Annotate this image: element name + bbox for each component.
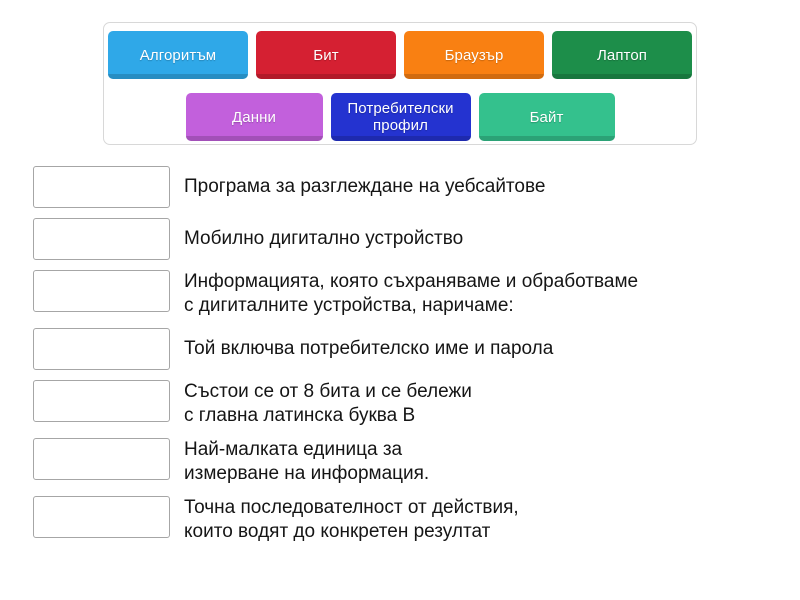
answer-text: Информацията, която съхраняваме и обрабо…: [184, 270, 638, 318]
answer-text: Най-малката единица за измерване на инфо…: [184, 438, 429, 486]
draggable-tile-label: Данни: [232, 109, 276, 126]
answer-row: Състои се от 8 бита и се бележи с главна…: [0, 380, 800, 428]
answer-drop-box[interactable]: [33, 380, 170, 422]
draggable-tile-label: Бит: [313, 47, 338, 64]
draggable-tile-label: Потребителски профил: [337, 100, 465, 134]
draggable-tile-label: Лаптоп: [597, 47, 647, 64]
answer-drop-box[interactable]: [33, 328, 170, 370]
draggable-tile[interactable]: Бит: [256, 31, 396, 79]
draggable-tile[interactable]: Алгоритъм: [108, 31, 248, 79]
draggable-tile-label: Байт: [530, 109, 564, 126]
draggable-tile-label: Браузър: [445, 47, 504, 64]
draggable-tile[interactable]: Байт: [479, 93, 615, 141]
draggable-tile[interactable]: Потребителски профил: [331, 93, 471, 141]
draggable-tile[interactable]: Браузър: [404, 31, 544, 79]
answer-drop-box[interactable]: [33, 166, 170, 208]
answer-row: Той включва потребителско име и парола: [0, 328, 800, 370]
answer-row: Най-малката единица за измерване на инфо…: [0, 438, 800, 486]
answer-drop-box[interactable]: [33, 270, 170, 312]
answer-drop-box[interactable]: [33, 218, 170, 260]
tile-row-1: АлгоритъмБитБраузърЛаптоп: [104, 31, 696, 79]
answer-row: Мобилно дигитално устройство: [0, 218, 800, 260]
answer-drop-box[interactable]: [33, 438, 170, 480]
answer-text: Мобилно дигитално устройство: [184, 227, 463, 251]
answer-list: Програма за разглеждане на уебсайтовеМоб…: [0, 166, 800, 554]
draggable-tile-label: Алгоритъм: [140, 47, 216, 64]
answer-text: Точна последователност от действия, коит…: [184, 496, 519, 544]
answer-text: Програма за разглеждане на уебсайтове: [184, 175, 545, 199]
draggable-tile[interactable]: Данни: [186, 93, 323, 141]
answer-text: Той включва потребителско име и парола: [184, 337, 553, 361]
answer-row: Програма за разглеждане на уебсайтове: [0, 166, 800, 208]
answer-row: Точна последователност от действия, коит…: [0, 496, 800, 544]
answer-drop-box[interactable]: [33, 496, 170, 538]
draggable-tile[interactable]: Лаптоп: [552, 31, 692, 79]
draggable-tile-tray: АлгоритъмБитБраузърЛаптоп ДанниПотребите…: [103, 22, 697, 145]
answer-text: Състои се от 8 бита и се бележи с главна…: [184, 380, 472, 428]
answer-row: Информацията, която съхраняваме и обрабо…: [0, 270, 800, 318]
tile-row-2: ДанниПотребителски профилБайт: [104, 93, 696, 141]
